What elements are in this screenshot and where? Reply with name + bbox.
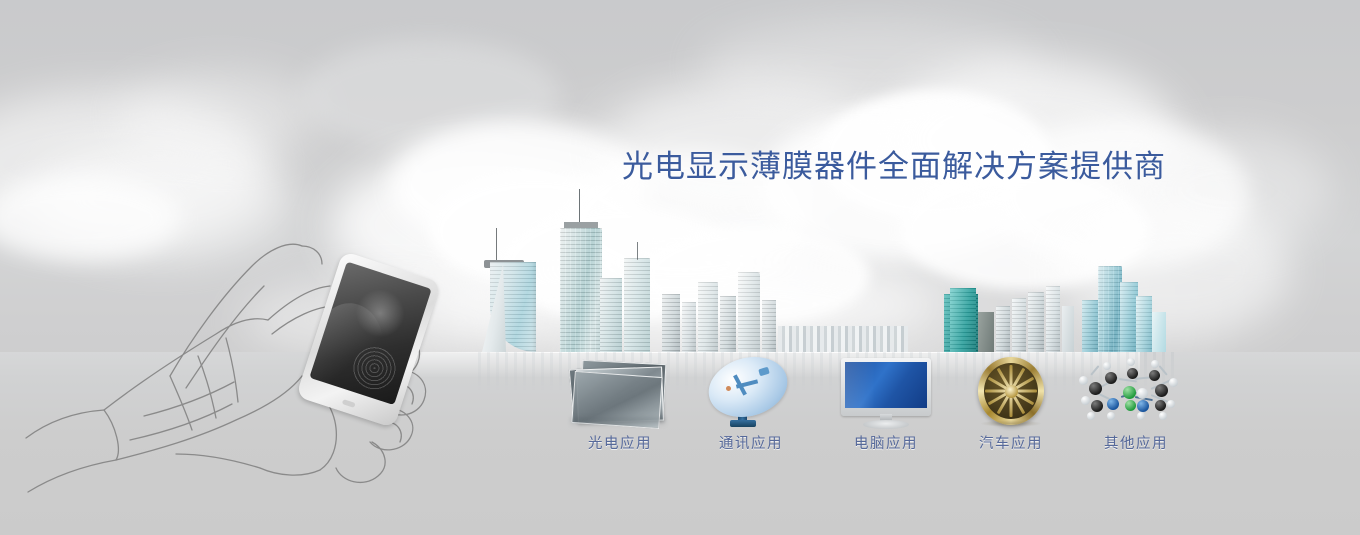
computer-monitor-icon — [821, 352, 951, 430]
application-item-communication[interactable]: 通讯应用 — [686, 352, 816, 462]
application-item-optoelectronic[interactable]: 光电应用 — [555, 352, 685, 462]
building-mid-1 — [662, 294, 680, 352]
building-grey-2 — [1012, 298, 1026, 352]
phone-home-button — [341, 399, 355, 408]
building-mid-3 — [698, 282, 718, 352]
wheel-hub — [1005, 385, 1018, 398]
building-grey-1 — [996, 306, 1010, 352]
application-item-other[interactable]: 其他应用 — [1071, 352, 1201, 462]
building-secondary-a — [600, 278, 622, 352]
application-icon-row: 光电应用 通讯应用 — [555, 352, 1200, 462]
application-label: 汽车应用 — [946, 432, 1076, 453]
building-cyan-2 — [1098, 266, 1122, 352]
building-main-tower — [556, 217, 604, 352]
satellite-dish-icon — [686, 352, 816, 430]
wheel-face — [984, 363, 1038, 419]
monitor-screen — [845, 362, 927, 408]
building-distant-strip — [778, 326, 908, 352]
dish-reflector — [702, 348, 795, 426]
page-title: 光电显示薄膜器件全面解决方案提供商 — [622, 141, 1166, 186]
building-sail-tower — [478, 248, 536, 352]
building-mid-4 — [720, 296, 736, 352]
atom-center-green — [1123, 386, 1136, 399]
building-cyan-4 — [1136, 296, 1152, 352]
molecule-model-icon — [1071, 352, 1201, 430]
wheel-rim — [978, 357, 1044, 425]
application-item-computer[interactable]: 电脑应用 — [821, 352, 951, 462]
building-teal-2 — [950, 288, 976, 352]
hero-banner: 光电显示薄膜器件全面解决方案提供商 — [0, 0, 1360, 535]
monitor-base — [863, 420, 909, 429]
hand-phone-illustration — [20, 120, 480, 520]
building-cyan-5 — [1152, 312, 1166, 352]
monitor-bezel — [841, 358, 931, 416]
building-secondary-b — [624, 258, 650, 352]
alloy-wheel-icon — [946, 352, 1076, 430]
building-mid-6 — [762, 300, 776, 352]
building-mid-2 — [682, 302, 696, 352]
glass-panel-stack-icon — [555, 352, 685, 430]
building-grey-5 — [1062, 306, 1074, 352]
application-label: 光电应用 — [555, 432, 685, 453]
building-grey-3 — [1028, 292, 1044, 352]
application-item-automotive[interactable]: 汽车应用 — [946, 352, 1076, 462]
building-grey-4 — [1046, 286, 1060, 352]
building-mid-5 — [738, 272, 760, 352]
building-teal-3 — [978, 312, 994, 352]
application-label: 其他应用 — [1071, 432, 1201, 453]
application-label: 电脑应用 — [821, 432, 951, 453]
application-label: 通讯应用 — [686, 432, 816, 453]
